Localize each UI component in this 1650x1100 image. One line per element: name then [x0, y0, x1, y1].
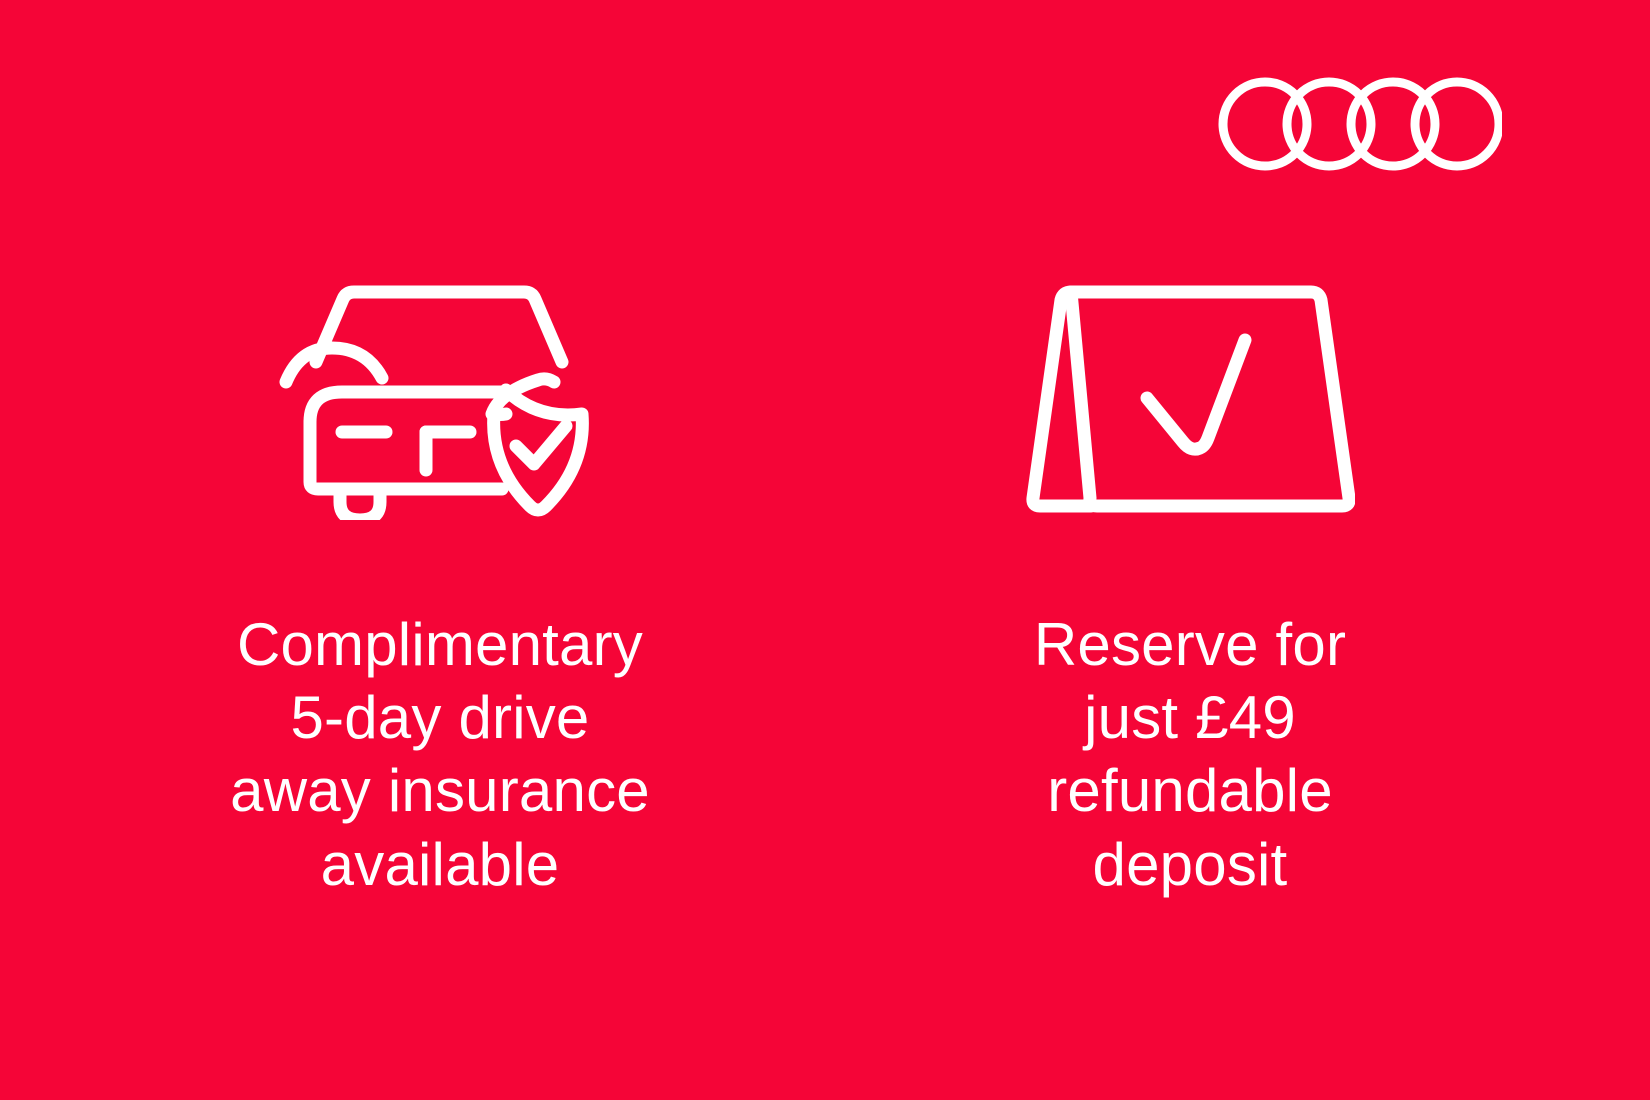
promo-banner: Complimentary 5-day drive away insurance…	[0, 0, 1650, 1100]
calendar-tent-card-check-icon	[1025, 270, 1355, 520]
feature-insurance: Complimentary 5-day drive away insurance…	[130, 270, 750, 901]
audi-four-rings-icon	[1218, 72, 1502, 176]
feature-insurance-text: Complimentary 5-day drive away insurance…	[230, 608, 650, 901]
feature-deposit: Reserve for just £49 refundable deposit	[880, 270, 1500, 901]
car-shield-insurance-icon	[270, 270, 610, 520]
feature-deposit-text: Reserve for just £49 refundable deposit	[1034, 608, 1346, 901]
